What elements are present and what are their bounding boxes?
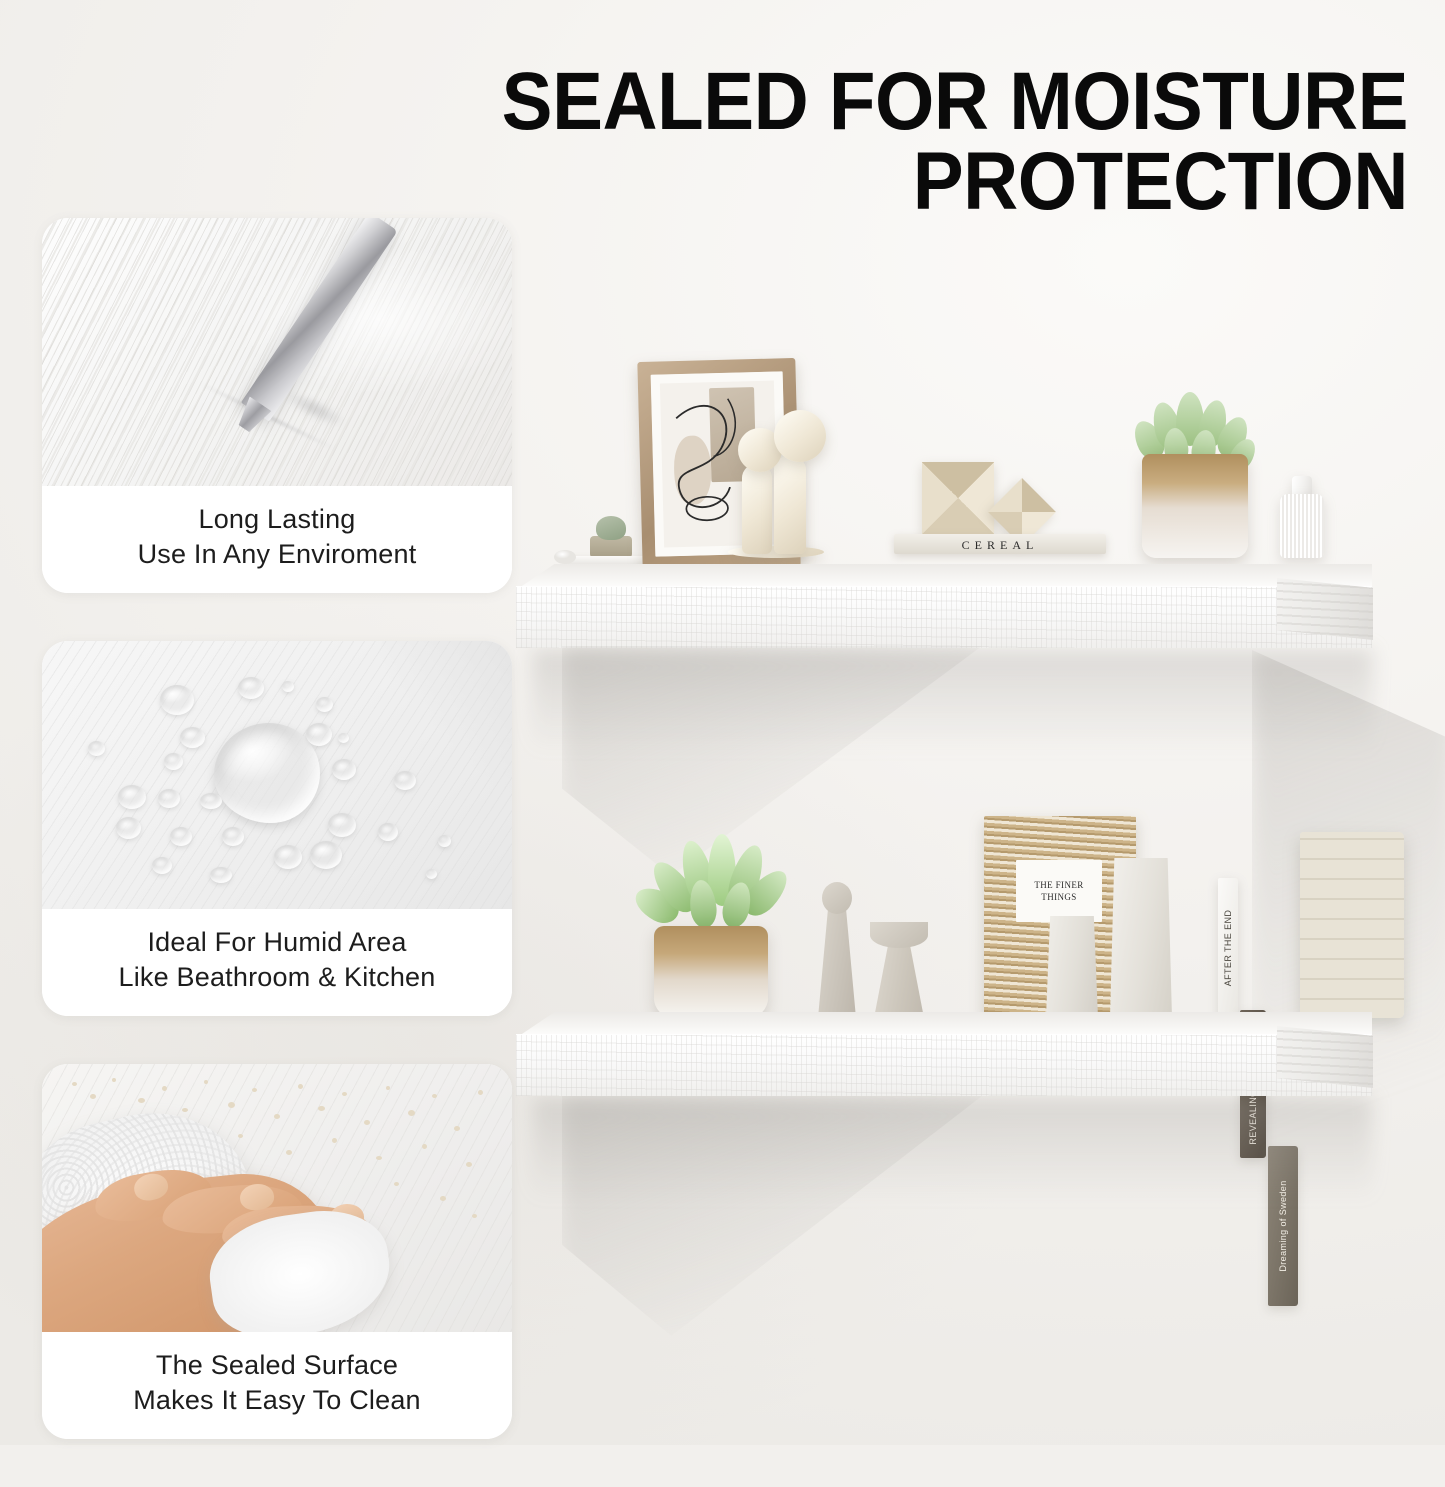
- taupe-candle-holder-short: [874, 940, 924, 1018]
- pillar-candle-short: [1046, 916, 1098, 1018]
- water-droplet: [378, 823, 398, 841]
- hand-wiping-surface-photo: [42, 1064, 512, 1332]
- book-cover-label: THE FINER THINGS: [1016, 860, 1102, 922]
- book-spine-after-the-end: AFTER THE END: [1218, 878, 1238, 1018]
- upper-shelf-decor-group: CEREAL UNION: [492, 250, 728, 292]
- water-droplet: [152, 857, 172, 874]
- caption-line-1: Long Lasting: [52, 502, 502, 537]
- figurine-head: [774, 410, 826, 462]
- water-droplet: [158, 789, 180, 808]
- lower-shelf-decor-group: THE FINER THINGS AFTER THE END REVEALING…: [492, 250, 522, 698]
- book-spine-title: AFTER THE END: [1223, 910, 1233, 987]
- coffee-table-book-cereal: CEREAL: [894, 534, 1106, 554]
- white-ribbed-bottle-vase: [1280, 494, 1324, 558]
- shelf-front-edge: [516, 1034, 1372, 1096]
- feature-caption: The Sealed Surface Makes It Easy To Clea…: [42, 1332, 512, 1439]
- shelf-right-side: [1277, 1026, 1373, 1088]
- succulent-in-gold-ombre-pot: [1142, 454, 1248, 558]
- feature-card-long-lasting: Long Lasting Use In Any Enviroment: [42, 218, 512, 593]
- water-droplet: [116, 817, 141, 839]
- pearl-couple-figurine: [774, 456, 806, 554]
- lower-shelf-board: [516, 1012, 1372, 1104]
- shelf-front-edge: [516, 586, 1372, 648]
- water-droplet: [170, 827, 192, 846]
- feature-caption: Ideal For Humid Area Like Beathroom & Ki…: [42, 909, 512, 1016]
- book-title-line-2: THINGS: [1041, 892, 1076, 902]
- pearl-couple-figurine: [742, 464, 772, 554]
- product-photo-floating-shelves: CEREAL UNION: [492, 250, 1445, 1370]
- water-droplet: [222, 827, 244, 846]
- water-droplet: [310, 841, 342, 869]
- feature-card-list: Long Lasting Use In Any Enviroment: [42, 218, 512, 1487]
- water-droplet: [274, 845, 302, 869]
- geometric-cube-large: [922, 462, 994, 534]
- feature-card-humid-area: Ideal For Humid Area Like Beathroom & Ki…: [42, 641, 512, 1016]
- water-droplet: [238, 677, 264, 699]
- white-sphere: [554, 550, 576, 564]
- water-droplet: [180, 727, 205, 748]
- water-droplet: [200, 793, 222, 809]
- vase-neck: [1292, 476, 1312, 496]
- upper-shelf-board: [516, 564, 1372, 656]
- caption-line-2: Use In Any Enviroment: [52, 537, 502, 572]
- water-droplets-beading-photo: [42, 641, 512, 909]
- water-droplet: [88, 741, 105, 756]
- agave-plant-in-rustic-pot: [654, 926, 768, 1018]
- candle-holder-knob: [822, 882, 852, 914]
- caption-line-2: Makes It Easy To Clean: [52, 1383, 502, 1418]
- water-droplet: [160, 685, 194, 715]
- water-droplet-large: [214, 723, 320, 823]
- water-droplet: [306, 723, 332, 746]
- caption-line-1: Ideal For Humid Area: [52, 925, 502, 960]
- water-droplet: [282, 681, 294, 692]
- water-droplet: [164, 753, 183, 770]
- headline-line-2: PROTECTION: [378, 142, 1408, 222]
- taupe-candle-holder-tall: [818, 910, 856, 1018]
- book-title: CEREAL: [894, 538, 1106, 553]
- water-droplet: [438, 835, 451, 847]
- candle-holder-bowl: [870, 922, 928, 948]
- screwdriver-scratch-test-photo: [42, 218, 512, 486]
- caption-line-1: The Sealed Surface: [52, 1348, 502, 1383]
- page-title: SEALED FOR MOISTURE PROTECTION: [378, 62, 1408, 223]
- pillar-candle-tall: [1110, 858, 1172, 1018]
- water-droplet: [332, 759, 356, 780]
- water-droplet: [316, 697, 333, 712]
- caption-line-2: Like Beathroom & Kitchen: [52, 960, 502, 995]
- water-droplet: [118, 785, 146, 809]
- shelf-right-side: [1277, 578, 1373, 640]
- feature-card-easy-clean: The Sealed Surface Makes It Easy To Clea…: [42, 1064, 512, 1439]
- green-ribbed-ornament: [596, 516, 626, 540]
- headline-line-1: SEALED FOR MOISTURE: [502, 56, 1408, 147]
- feature-caption: Long Lasting Use In Any Enviroment: [42, 486, 512, 593]
- water-droplet: [394, 771, 416, 790]
- cream-leather-bound-book: [1300, 832, 1404, 1018]
- book-title-line-1: THE FINER: [1034, 880, 1083, 890]
- water-droplet: [210, 867, 232, 883]
- water-droplet: [328, 813, 356, 837]
